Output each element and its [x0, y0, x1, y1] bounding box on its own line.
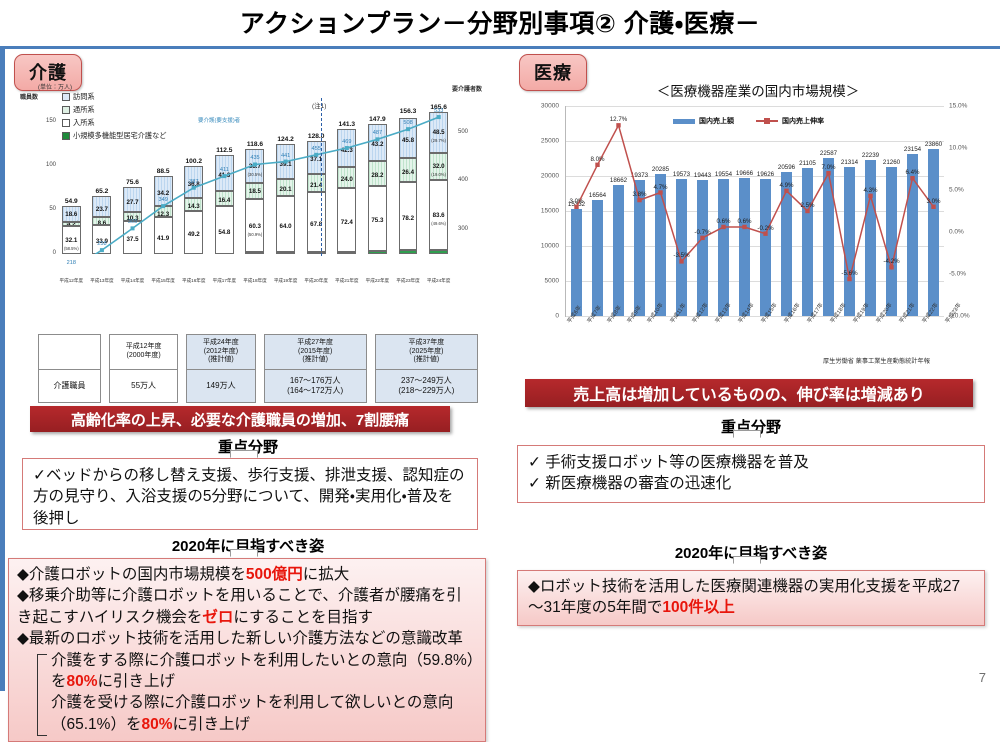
table-col-header-0	[39, 335, 101, 370]
x-tick: 平成19年度	[270, 278, 301, 292]
kaigo-column: 介護 (単位：万人) 職員数 要介護者数 (注1) 要介護(要支援)者 訪問系 …	[8, 54, 488, 688]
bar-segment: 8.6	[92, 217, 111, 224]
line-point-label: -4.2%	[883, 258, 899, 265]
y-tick: 50	[49, 206, 56, 212]
line-point-label: 3.0%	[569, 198, 583, 205]
left-accent-rail	[0, 49, 5, 691]
y-tick-right: -5.0%	[949, 271, 966, 278]
bar-segment: 38.7(30.5%)	[245, 149, 264, 183]
bar-segment: 72.4	[337, 188, 356, 252]
bar-total-label: 128.0	[308, 133, 325, 140]
line-point-label: 469	[342, 139, 351, 145]
line-point-label: -0.7%	[694, 229, 710, 236]
chart-y-axis-right: -10.0%-5.0%0.0%5.0%10.0%15.0%	[945, 106, 993, 316]
bar-segment: 20.1	[276, 179, 295, 197]
bar-segment: 48.5(29.7%)	[429, 112, 448, 153]
table-col-header-1: 平成12年度(2000年度)	[109, 335, 177, 370]
bar-total-label: 100.2	[185, 158, 202, 165]
bar-segment: 33.9	[92, 225, 111, 254]
chart-plot-area: 1533216564186621937320285195731944319554…	[565, 106, 944, 317]
y-tick-right: 10.0%	[949, 145, 967, 152]
line-point-label: -0.2%	[757, 225, 773, 232]
y-tick: 150	[46, 118, 56, 124]
medical-device-market-chart: ＜医療機器産業の国内市場規模＞ 国内売上額 国内売上伸率 05000100001…	[523, 80, 993, 380]
bar-segment: 83.6(49.6%)	[429, 180, 448, 250]
chart-plot-area: 54.918.6(33.9%)4.2(7.7%)32.1(58.5%)65.22…	[56, 104, 454, 276]
line-point-label: 0.6%	[737, 218, 751, 225]
bar-total-label: 147.9	[369, 116, 386, 123]
bar-segment: 23.7	[92, 196, 111, 217]
line-point-label: 12.7%	[610, 116, 628, 123]
line-point-label: 8.0%	[590, 156, 604, 163]
y-tick: 30000	[541, 103, 559, 110]
bar-column: 165.648.5(29.7%)32.0(19.0%)83.6(49.6%)	[423, 104, 454, 254]
x-tick: 平成14年度	[117, 278, 148, 292]
line-point-label: 3.8%	[632, 191, 646, 198]
bar-segment: 67.8	[307, 192, 326, 252]
bar-segment: 39.1	[276, 144, 295, 178]
bar-total-label: 118.6	[247, 141, 263, 148]
bar-segment: 18.6(33.9%)	[62, 206, 81, 222]
line-point-label: 487	[373, 130, 382, 136]
table-cell-1: 55万人	[109, 370, 177, 403]
goal-bracket	[37, 654, 47, 736]
y-tick-right: 400	[458, 177, 468, 183]
bar-segment: 37.5	[123, 221, 142, 254]
bar-segment: 21.4	[307, 174, 326, 193]
bar-total-label: 156.3	[400, 108, 417, 115]
line-point-label: 7.0%	[821, 164, 835, 171]
legend-item-homon: 訪問系	[62, 90, 166, 103]
bar-column: 147.943.228.275.3	[362, 104, 393, 254]
chart-ylabel-right: 要介護者数	[452, 84, 482, 93]
line-point-label: -3.5%	[673, 252, 689, 259]
chevron-down-icon-3	[733, 430, 761, 446]
chart-projection-divider	[321, 98, 322, 256]
slide-root: アクションプラン－分野別事項② 介護・医療－ 介護 (単位：万人) 職員数 要介…	[0, 0, 1000, 691]
bar-segment	[245, 252, 264, 254]
y-tick: 15000	[541, 208, 559, 215]
bar-segment: 14.3	[184, 198, 203, 211]
line-point-label: 441	[281, 153, 290, 159]
line-point-label: 6.4%	[905, 169, 919, 176]
bar-column: 75.627.710.337.5	[117, 104, 148, 254]
table-header-row: 平成12年度(2000年度)平成24年度(2012年度)(推計値)平成27年度(…	[39, 335, 478, 370]
kaigo-goal-2: ◆移乗介助等に介護ロボットを用いることで、介護者が腰痛を引き起こすハイリスク機会…	[17, 585, 477, 628]
bar-total-label: 124.2	[277, 136, 294, 143]
table-col-header-2: 平成24年度(2012年度)(推計値)	[187, 335, 255, 370]
iryo-goal-1: ◆ロボット技術を活用した医療関連機器の実用化支援を平成27～31年度の5年間で1…	[528, 576, 974, 619]
x-tick: 平成16年度	[178, 278, 209, 292]
bar-column: 124.239.120.164.0	[270, 104, 301, 254]
kaigo-goal-1: ◆介護ロボットの国内市場規模を500億円に拡大	[17, 564, 477, 585]
chart-y-axis-right: 300400500	[456, 104, 478, 276]
table-cell-3: 167～176万人(164～172万人)	[264, 370, 366, 403]
bar-segment: 18.5(15.6%)	[245, 183, 264, 199]
y-tick: 25000	[541, 138, 559, 145]
title-divider	[0, 46, 1000, 49]
bar-segment: 32.0(19.0%)	[429, 153, 448, 180]
kaigo-goal-box: ◆介護ロボットの国内市場規模を500億円に拡大 ◆移乗介助等に介護ロボットを用い…	[8, 558, 486, 742]
bar-segment: 16.4	[215, 191, 234, 205]
bar-total-label: 65.2	[95, 188, 108, 195]
kaigo-staff-chart: (単位：万人) 職員数 要介護者数 (注1) 要介護(要支援)者 訪問系 通所系…	[20, 82, 482, 304]
line-point-label: 218	[67, 260, 76, 266]
line-point-label: 533	[434, 108, 443, 114]
line-point-label: 258	[97, 241, 106, 247]
y-tick: 100	[46, 162, 56, 168]
bar-segment: 27.7	[123, 187, 142, 211]
iryo-focus-1: ✓ 手術支援ロボット等の医療機器を普及	[528, 452, 974, 473]
y-tick-right: 500	[458, 129, 468, 135]
bar-segment	[337, 252, 356, 254]
line-point-label: 3.0%	[926, 198, 940, 205]
line-point-label: 508	[403, 120, 412, 126]
kaigo-goal-3: ◆最新のロボット技術を活用した新しい介護方法などの意識改革	[17, 628, 477, 649]
bar-column: 141.342.324.072.4	[331, 104, 362, 254]
bar-segment	[368, 251, 387, 254]
iryo-banner: 売上高は増加しているものの、伸び率は増減あり	[525, 379, 973, 407]
iryo-column: 医療 ＜医療機器産業の国内市場規模＞ 国内売上額 国内売上伸率 05000100…	[505, 54, 997, 688]
x-tick: 平成23年度	[393, 278, 424, 292]
kaigo-subgoal-2: 介護を受ける際に介護ロボットを利用して欲しいとの意向（65.1%）を80%に引き…	[17, 692, 477, 735]
table-col-header-3: 平成27年度(2015年度)(推計値)	[264, 335, 366, 370]
line-point-label: 2.5%	[800, 202, 814, 209]
bar-column: 118.638.7(30.5%)18.5(15.6%)60.3(50.9%)	[240, 104, 271, 254]
line-point-label: 4.9%	[779, 182, 793, 189]
x-tick: 平成22年度	[362, 278, 393, 292]
y-tick-right: 0.0%	[949, 229, 964, 236]
bar-segment: 54.8	[215, 206, 234, 254]
bar-total-label: 88.5	[157, 168, 170, 175]
bar-segment: 12.3	[154, 206, 173, 217]
y-tick: 5000	[545, 278, 559, 285]
bar-segment: 32.1(58.5%)	[62, 226, 81, 254]
line-point-label: 4.3%	[863, 187, 877, 194]
bar-column: 65.223.78.633.9	[87, 104, 118, 254]
bar-segment: 75.3	[368, 186, 387, 252]
bar-segment: 64.0	[276, 196, 295, 252]
bar-segment	[429, 250, 448, 254]
bar-total-label: 54.9	[65, 198, 78, 205]
chart-title: ＜医療機器産業の国内市場規模＞	[523, 80, 993, 100]
kaigo-focus-text: ✓ベッドからの移し替え支援、歩行支援、排泄支援、認知症の方の見守り、入浴支援の5…	[33, 465, 467, 529]
table-row: 介護職員55万人149万人167～176万人(164～172万人)237～249…	[39, 370, 478, 403]
bar-segment: 24.0	[337, 167, 356, 188]
chart-line-series	[566, 106, 944, 316]
bar-segment: 26.4	[399, 158, 418, 181]
bar-column: 88.534.212.341.9	[148, 104, 179, 254]
line-point-label: 0.6%	[716, 218, 730, 225]
kaigo-focus-box: ✓ベッドからの移し替え支援、歩行支援、排泄支援、認知症の方の見守り、入浴支援の5…	[22, 458, 478, 530]
y-tick-right: 300	[458, 226, 468, 232]
line-point-label: 303	[128, 219, 137, 225]
chart-y-axis-left: 050100150	[40, 104, 56, 276]
bar-segment: 41.9	[154, 217, 173, 254]
y-tick: 20000	[541, 173, 559, 180]
line-point-label: 4.7%	[653, 184, 667, 191]
bar-total-label: 112.5	[216, 147, 232, 154]
kaigo-staff-table: 平成12年度(2000年度)平成24年度(2012年度)(推計値)平成27年度(…	[38, 334, 478, 403]
iryo-focus-2: ✓ 新医療機器の審査の迅速化	[528, 473, 974, 494]
page-title: アクションプラン－分野別事項② 介護・医療－	[0, 4, 1000, 40]
x-tick: 平成20年度	[301, 278, 332, 292]
x-tick: 平成24年度	[423, 278, 454, 292]
x-tick: 平成21年度	[331, 278, 362, 292]
x-tick: 平成15年度	[148, 278, 179, 292]
y-tick-right: 15.0%	[949, 103, 967, 110]
bar-segment	[399, 250, 418, 254]
bar-segment: 42.3	[337, 129, 356, 166]
bar-segment	[307, 252, 326, 254]
bar-column: 128.037.121.467.8	[301, 104, 332, 254]
iryo-goal-box: ◆ロボット技術を活用した医療関連機器の実用化支援を平成27～31年度の5年間で1…	[517, 570, 985, 626]
chart-source-note: 厚生労働省 薬事工業生産動態統計年報	[823, 356, 930, 365]
line-point-label: 411	[220, 167, 229, 173]
x-tick: 平成17年度	[209, 278, 240, 292]
y-tick-right: 5.0%	[949, 187, 964, 194]
chart-bar-group: 54.918.6(33.9%)4.2(7.7%)32.1(58.5%)65.22…	[56, 104, 454, 254]
bar-segment: 78.2	[399, 182, 418, 251]
table-cell-2: 149万人	[187, 370, 255, 403]
bar-segment	[276, 252, 295, 254]
kaigo-subgoal-1: 介護をする際に介護ロボットを利用したいとの意向（59.8%）を80%に引き上げ	[17, 650, 477, 693]
table-cell-4: 237～249万人(218～229万人)	[375, 370, 477, 403]
bar-segment: 49.2	[184, 211, 203, 254]
bar-segment: 60.3(50.9%)	[245, 199, 264, 252]
table-col-header-4: 平成37年度(2025年度)(推計値)	[375, 335, 477, 370]
bar-total-label: 141.3	[339, 121, 356, 128]
x-tick: 平成13年度	[87, 278, 118, 292]
line-point-label: 435	[250, 155, 259, 161]
bar-segment: 28.2	[368, 161, 387, 186]
y-tick: 0	[555, 313, 559, 320]
kaigo-banner: 高齢化率の上昇、必要な介護職員の増加、7割腰痛	[30, 406, 450, 432]
table-row-label: 介護職員	[39, 370, 101, 403]
line-point-label: 349	[158, 197, 167, 203]
x-tick: 平成12年度	[56, 278, 87, 292]
chart-y-axis-left: 050001000015000200002500030000	[523, 106, 561, 316]
chart-ylabel-left: 職員数	[20, 92, 38, 101]
page-number: 7	[979, 670, 986, 685]
line-point-label: 387	[189, 179, 198, 185]
bar-total-label: 75.6	[126, 179, 139, 186]
chart-x-axis: 平成6年平成7年平成8年平成9年平成10年平成11年平成12年平成13年平成14…	[565, 318, 943, 374]
chart-x-axis: 平成12年度平成13年度平成14年度平成15年度平成16年度平成17年度平成18…	[56, 278, 454, 292]
bar-column: 54.918.6(33.9%)4.2(7.7%)32.1(58.5%)	[56, 104, 87, 254]
x-tick: 平成18年度	[240, 278, 271, 292]
y-tick: 10000	[541, 243, 559, 250]
bar-column: 112.541.316.454.8	[209, 104, 240, 254]
line-point-label: 455	[312, 146, 321, 152]
iryo-focus-box: ✓ 手術支援ロボット等の医療機器を普及 ✓ 新医療機器の審査の迅速化	[517, 445, 985, 503]
bar-segment: 43.2	[368, 124, 387, 162]
line-point-label: -5.6%	[841, 270, 857, 277]
bar-column: 156.345.826.478.2	[393, 104, 424, 254]
